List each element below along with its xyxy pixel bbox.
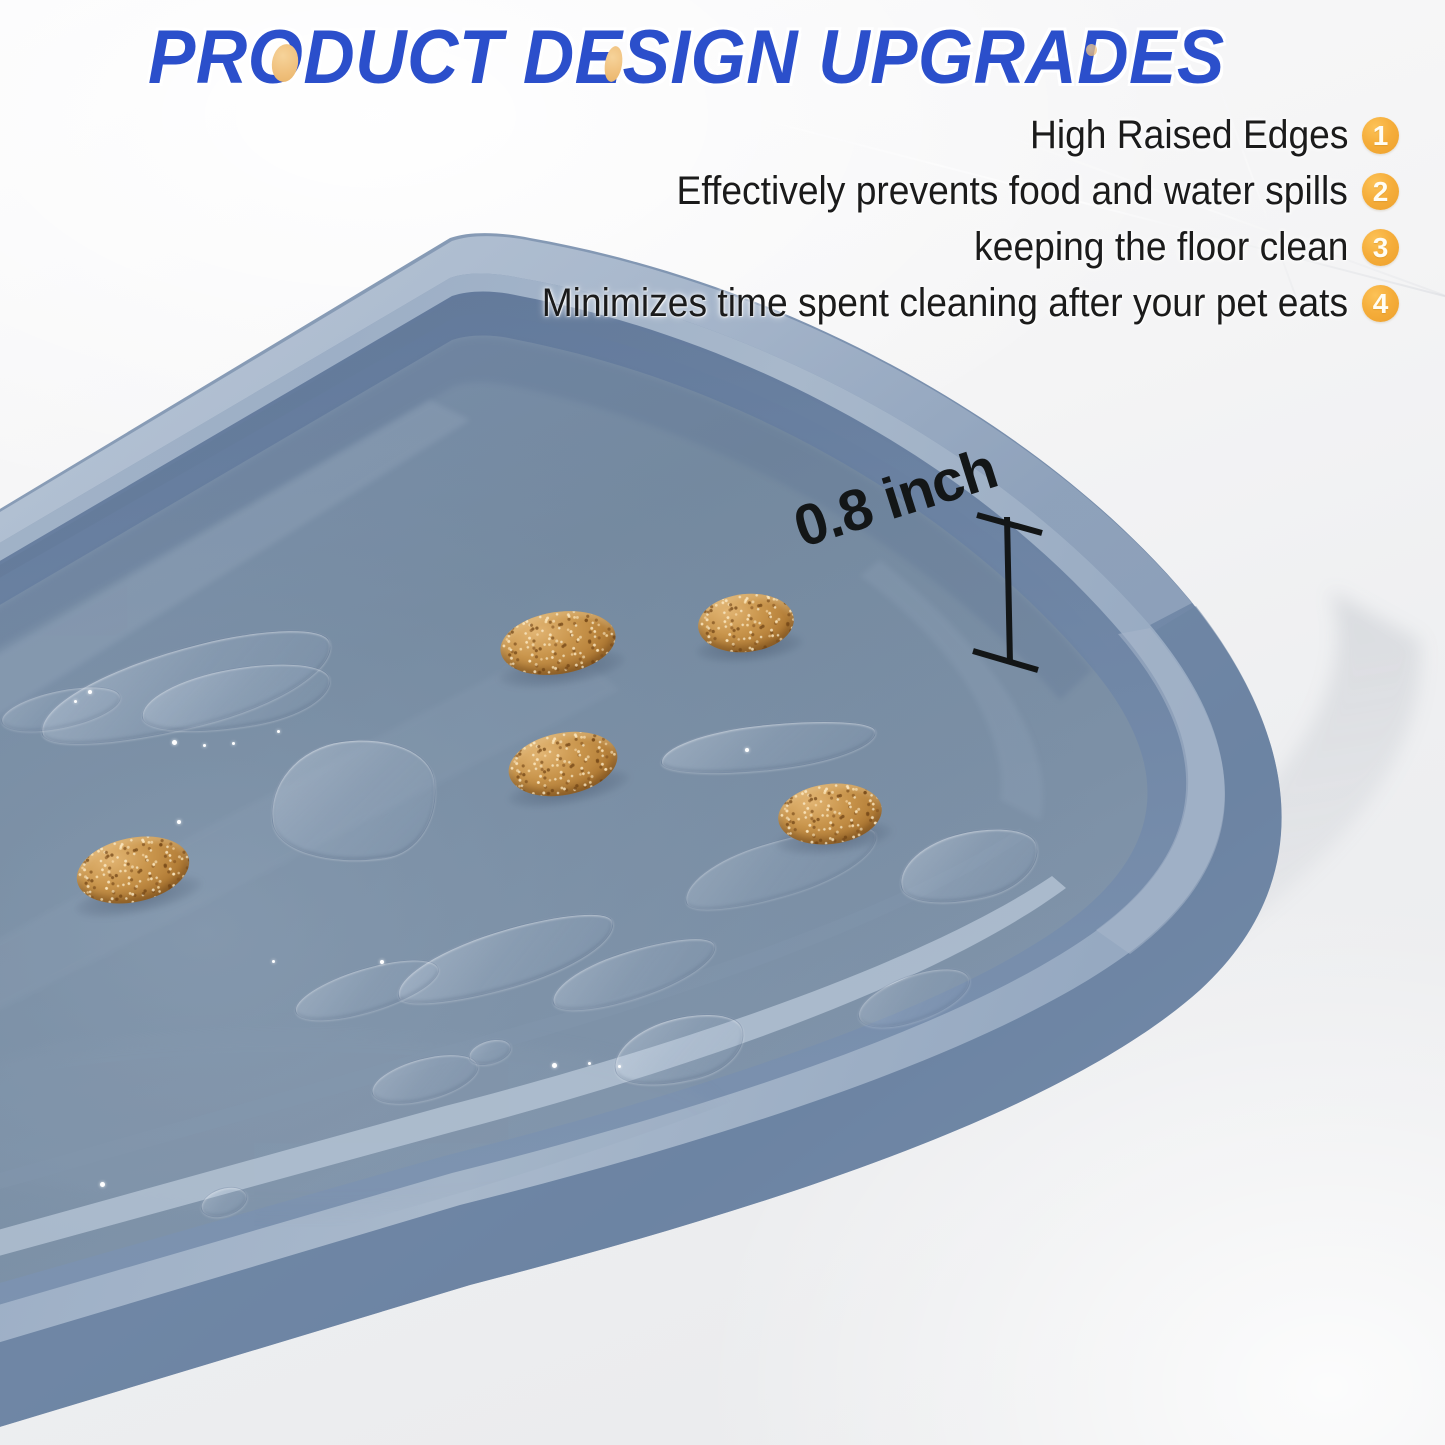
feature-number-badge: 4 xyxy=(1362,285,1399,322)
feature-text: High Raised Edges xyxy=(1030,113,1348,157)
feature-list-item: Minimizes time spent cleaning after your… xyxy=(79,281,1399,325)
feature-text: Effectively prevents food and water spil… xyxy=(677,169,1348,213)
feature-text: Minimizes time spent cleaning after your… xyxy=(542,281,1348,325)
feature-list-item: Effectively prevents food and water spil… xyxy=(79,169,1399,213)
dimension-vertical-line xyxy=(1007,517,1010,664)
feature-text: keeping the floor clean xyxy=(974,225,1348,269)
feature-list: High Raised Edges 1 Effectively prevents… xyxy=(79,113,1399,337)
product-infographic: 0.8 inch PRODUCT DESIGN UPGRADES High Ra… xyxy=(0,0,1445,1445)
page-title: PRODUCT DESIGN UPGRADES xyxy=(148,18,1225,98)
feature-list-item: High Raised Edges 1 xyxy=(79,113,1399,157)
feature-number-badge: 2 xyxy=(1362,173,1399,210)
feature-list-item: keeping the floor clean 3 xyxy=(79,225,1399,269)
feature-number-badge: 3 xyxy=(1362,229,1399,266)
dimension-cap-bottom xyxy=(973,651,1038,670)
feature-number-badge: 1 xyxy=(1362,117,1399,154)
